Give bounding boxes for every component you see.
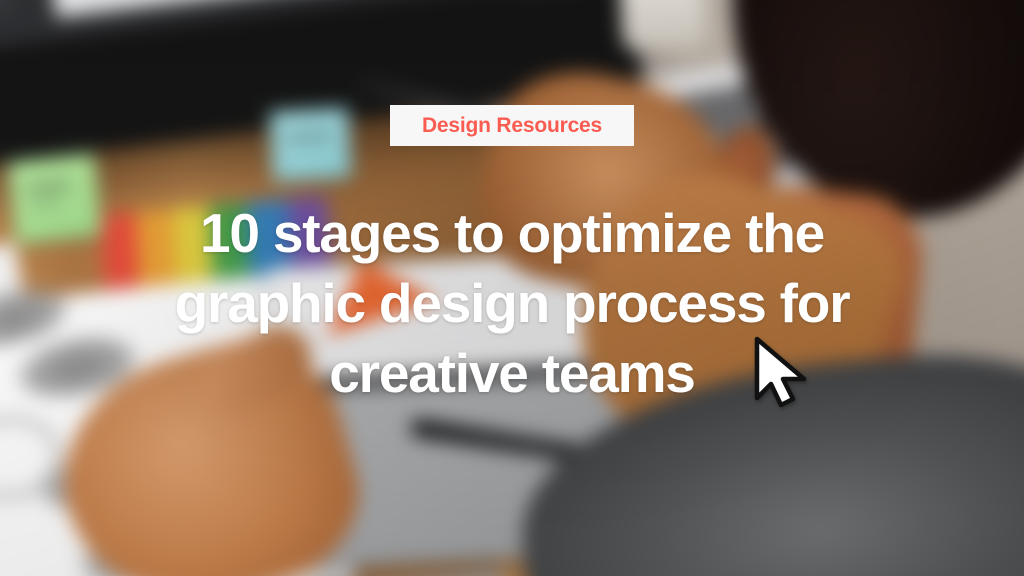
category-badge[interactable]: Design Resources: [390, 105, 634, 146]
arrow-pointer-icon: [752, 336, 814, 408]
article-hero-banner: Design Resources 10 stages to optimize t…: [0, 0, 1024, 576]
hero-content: Design Resources 10 stages to optimize t…: [0, 0, 1024, 576]
category-badge-label: Design Resources: [422, 114, 602, 138]
